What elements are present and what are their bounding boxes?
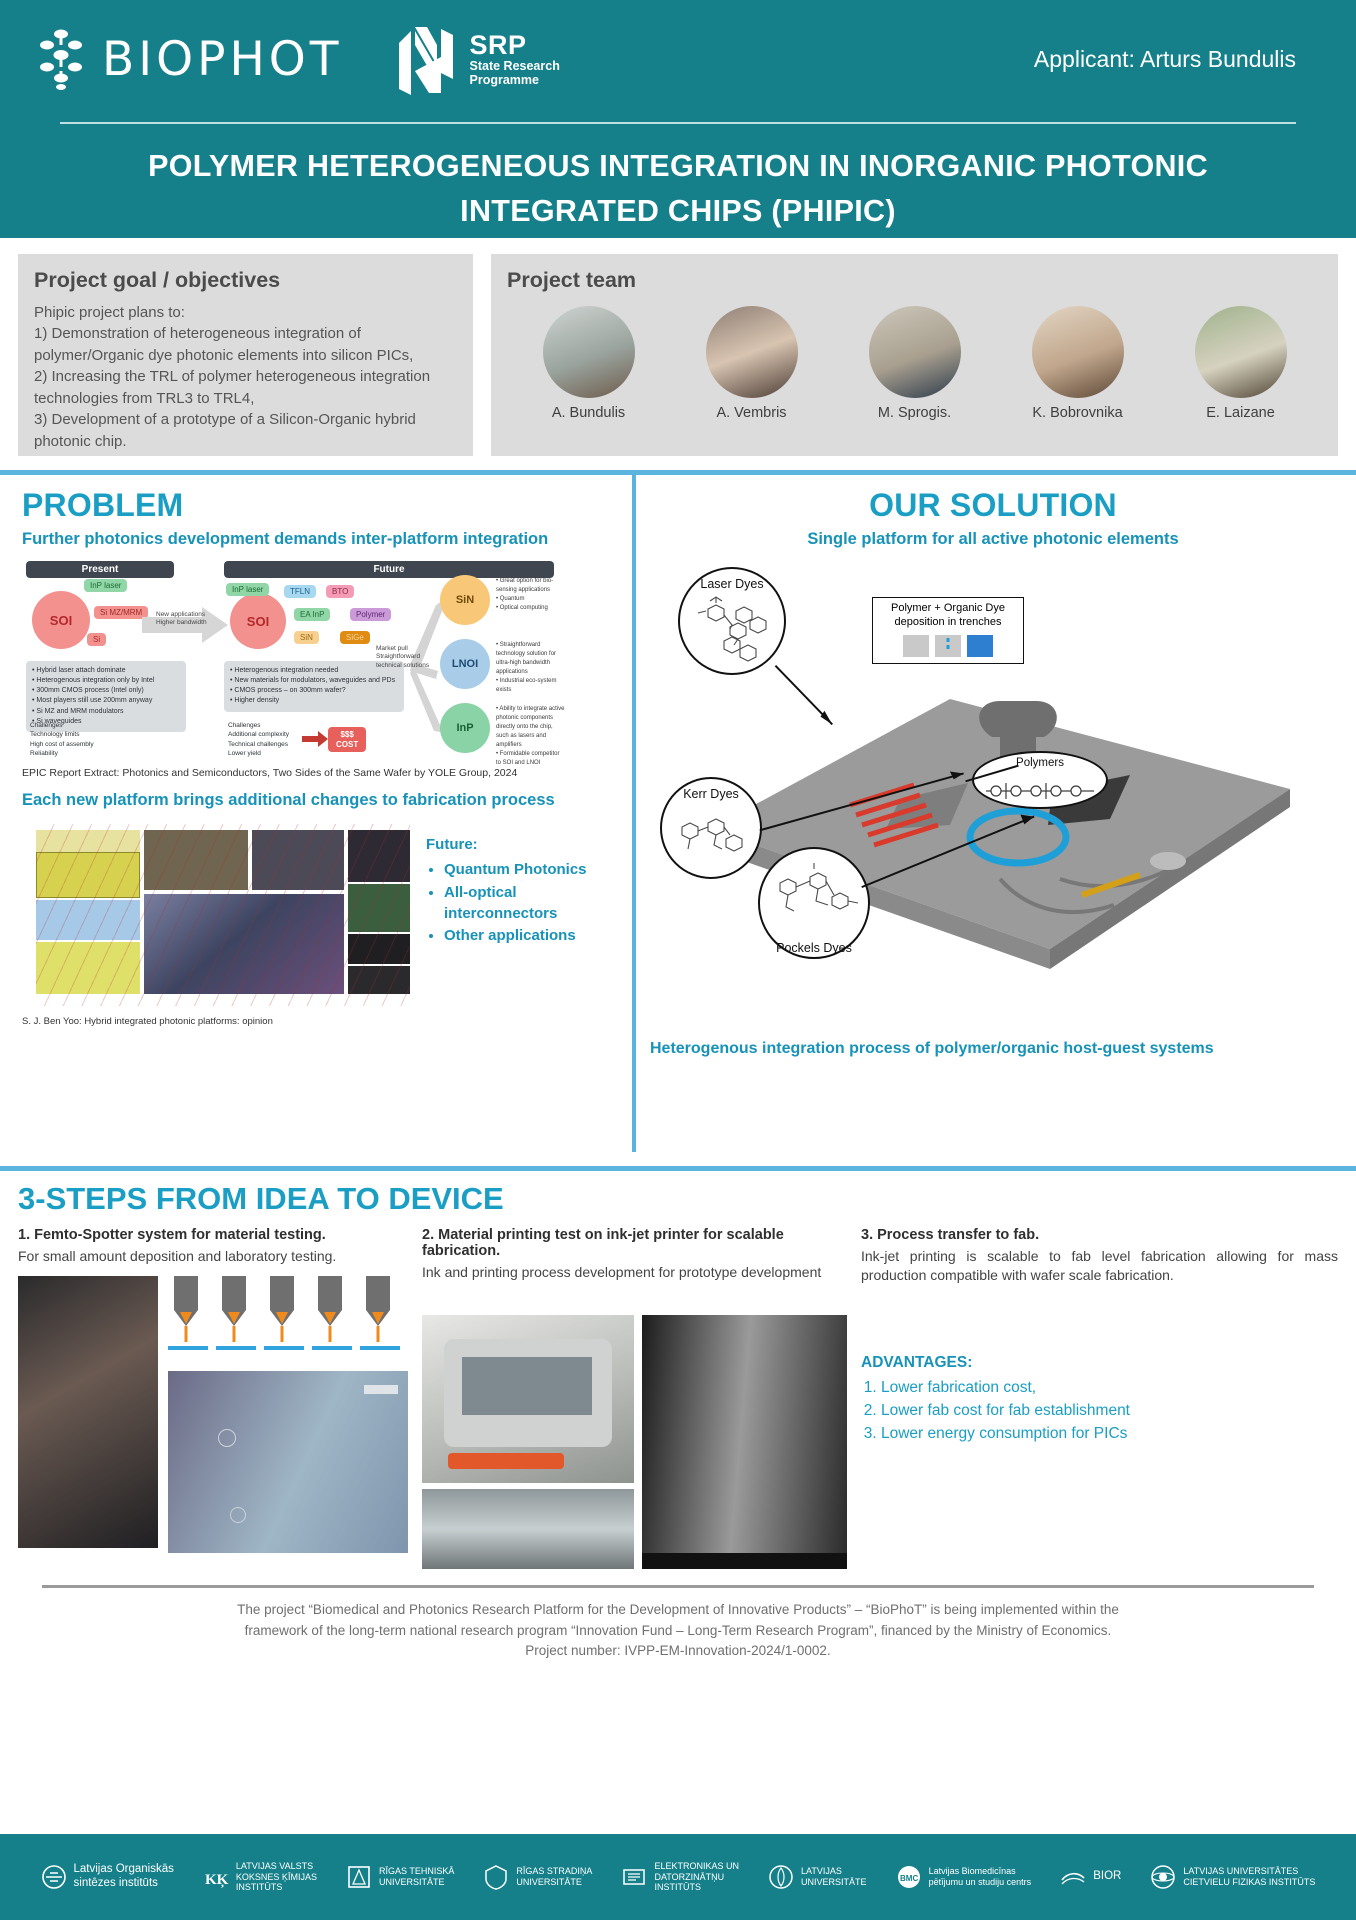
three-steps-section: 3-STEPS FROM IDEA TO DEVICE 1. Femto-Spo… [0,1171,1356,1569]
problem-citation-2: S. J. Ben Yoo: Hybrid integrated photoni… [22,1016,618,1027]
srp-logo: SRP State Research Programme [393,23,560,95]
institution-name: Latvijas Biomedicīnas pētījumu un studij… [929,1866,1032,1887]
avatar [543,306,635,398]
future-application-item: All-optical interconnectors [444,882,618,925]
team-member: K. Bobrovnika [1022,306,1134,421]
present-future-diagram: Present Future SOI InP laser Si MZ/MRM S… [22,561,618,761]
solution-caption: Heterogenous integration process of poly… [650,1038,1336,1060]
trench-deposition-box: Polymer + Organic Dye deposition in tren… [872,597,1024,664]
solution-diagram: Laser Dyes [650,559,1336,1034]
trench-thumb [967,635,993,657]
goal-item: 1) Demonstration of heterogeneous integr… [34,323,457,366]
biophot-molecule-icon [36,28,86,90]
srp-emblem-icon [393,23,459,95]
advantages-heading: ADVANTAGES: [861,1354,1338,1372]
market-pull-label: Market pullStraightforwardtechnical solu… [376,645,440,670]
team-member-name: M. Sprogis. [859,405,971,421]
cost-badge: $$$COST [328,727,366,752]
present-tag-si-mz: Si MZ/MRM [94,606,148,619]
step-3: 3. Process transfer to fab. Ink-jet prin… [861,1227,1338,1569]
future-tag-sin: SiN [294,631,319,644]
inkjet-printer-photo [422,1315,634,1483]
laser-dyes-bubble: Laser Dyes [678,567,786,675]
polymers-label: Polymers [1016,753,1064,769]
trench-thumbnails [878,635,1018,657]
platform-node-inp: InP [440,703,490,753]
step-2-heading: 2. Material printing test on ink-jet pri… [422,1227,847,1259]
kerr-dye-molecule-icon [674,809,750,869]
present-soi-node: SOI [32,591,90,649]
team-member: A. Bundulis [533,306,645,421]
platform-notes-lnoi: • Straightforward technology solution fo… [496,641,566,695]
institution-logo: KĶI LATVIJAS VALSTS KOKSNES ĶĪMIJAS INST… [203,1861,317,1893]
goal-item: 3) Development of a prototype of a Silic… [34,409,457,452]
polymer-chain-icon [986,779,1098,803]
project-team-heading: Project team [507,268,1322,293]
avatar [869,306,961,398]
funding-line: The project “Biomedical and Photonics Re… [70,1600,1286,1621]
institution-logo: BIOR [1060,1864,1121,1890]
institution-logo: LATVIJAS UNIVERSITĀTE [768,1864,867,1890]
future-tag-tfln: TFLN [284,585,316,598]
future-tag-bto: BTO [326,585,354,598]
institution-name: BIOR [1093,1870,1121,1884]
problem-subtitle-2: Each new platform brings additional chan… [22,791,618,810]
platform-notes-sin: • Great option for bio-sensing applicati… [496,577,566,613]
rsu-logo-icon [483,1864,509,1890]
printed-line-micrograph [422,1489,634,1569]
future-tag-inp-laser: InP laser [226,583,269,596]
cfi-logo-icon [1150,1864,1176,1890]
avatar [1195,306,1287,398]
advantage-item: Lower fabrication cost, [881,1376,1338,1399]
edi-logo-icon [621,1864,647,1890]
future-application-item: Other applications [444,925,618,946]
main-two-column-area: PROBLEM Further photonics development de… [0,475,1356,1152]
trench-thumb [903,635,929,657]
rtu-logo-icon [346,1864,372,1890]
future-applications-heading: Future: [426,834,618,855]
future-tag-polymer: Polymer [350,608,391,621]
laser-dyes-label: Laser Dyes [700,569,763,591]
step-3-heading: 3. Process transfer to fab. [861,1227,1338,1243]
present-tag-si: Si [87,633,106,646]
solution-subtitle: Single platform for all active photonic … [650,530,1336,549]
page-title: POLYMER HETEROGENEOUS INTEGRATION IN INO… [36,124,1320,234]
team-member-name: A. Bundulis [533,405,645,421]
team-member: M. Sprogis. [859,306,971,421]
institution-logo: ELEKTRONIKAS UN DATORZINĀTŅU INSTITŪTS [621,1861,739,1893]
applicant-label: Applicant: Arturs Bundulis [1034,46,1320,73]
institution-name: LATVIJAS UNIVERSITĀTES CIETVIELU FIZIKAS… [1183,1866,1315,1887]
funding-acknowledgement: The project “Biomedical and Photonics Re… [0,1588,1356,1662]
transition-arrow-label: New applicationsHigher bandwidth [156,611,207,628]
kerr-dyes-bubble: Kerr Dyes [660,777,762,879]
avatar [706,306,798,398]
deposited-film-micrograph [168,1371,408,1553]
institution-logo: RĪGAS TEHNISKĀ UNIVERSITĀTE [346,1864,454,1890]
kerr-dyes-label: Kerr Dyes [683,779,739,801]
future-challenges: ChallengesAdditional complexityTechnical… [228,721,289,759]
polymers-bubble: Polymers [972,751,1108,809]
institution-logo-bar: Latvijas Organiskās sintēzes institūts K… [0,1834,1356,1920]
platform-node-sin: SiN [440,575,490,625]
project-team-panel: Project team A. Bundulis A. Vembris M. S… [491,254,1338,456]
step-2: 2. Material printing test on ink-jet pri… [422,1227,847,1569]
femto-spotter-photo [18,1276,158,1548]
solution-title: OUR SOLUTION [650,487,1336,524]
hybrid-platforms-figure: Future: Quantum Photonics All-optical in… [22,820,618,1010]
biophot-logo: BIOPHOT [36,28,343,90]
institution-logo: BMC Latvijas Biomedicīnas pētījumu un st… [896,1864,1032,1890]
srp-wordmark: SRP State Research Programme [470,31,560,87]
institution-name: ELEKTRONIKAS UN DATORZINĀTŅU INSTITŪTS [654,1861,739,1893]
advantages-list: Lower fabrication cost, Lower fab cost f… [881,1376,1338,1446]
trench-thumb [935,635,961,657]
project-goal-panel: Project goal / objectives Phipic project… [18,254,473,456]
srp-line-2: Programme [470,74,560,88]
present-challenges: ChallengesTechnology limitsHigh cost of … [30,721,94,759]
goal-item: 2) Increasing the TRL of polymer heterog… [34,366,457,409]
osi-logo-icon [41,1864,67,1890]
future-application-item: Quantum Photonics [444,859,618,880]
top-panels-row: Project goal / objectives Phipic project… [0,238,1356,456]
pockels-dyes-label: Pockels Dyes [776,941,852,955]
pockels-dyes-bubble: Pockels Dyes [758,847,870,959]
biophot-wordmark: BIOPHOT [102,32,343,87]
lu-logo-icon [768,1864,794,1890]
institution-name: LATVIJAS UNIVERSITĀTE [801,1866,867,1887]
step-3-text: Ink-jet printing is scalable to fab leve… [861,1247,1338,1286]
hybrid-platforms-image [36,824,410,1006]
institution-name: LATVIJAS VALSTS KOKSNES ĶĪMIJAS INSTITŪT… [236,1861,317,1893]
institution-logo: Latvijas Organiskās sintēzes institūts [41,1863,174,1890]
institution-name: RĪGAS TEHNISKĀ UNIVERSITĀTE [379,1866,454,1887]
team-member-name: K. Bobrovnika [1022,405,1134,421]
future-tag-sige: SiGe [340,631,370,644]
problem-title: PROBLEM [22,487,618,524]
pockels-dye-molecule-icon [770,863,862,933]
advantage-item: Lower energy consumption for PICs [881,1422,1338,1445]
step-1-heading: 1. Femto-Spotter system for material tes… [18,1227,408,1243]
future-applications-list: Future: Quantum Photonics All-optical in… [426,834,618,947]
avatar [1032,306,1124,398]
header-top-row: BIOPHOT SRP State Research Programme App… [36,0,1320,118]
project-goal-body: Phipic project plans to: 1) Demonstratio… [34,302,457,452]
institution-name: Latvijas Organiskās sintēzes institūts [74,1863,174,1890]
srp-line-1: State Research [470,60,560,74]
future-header: Future [224,561,554,578]
lvkki-logo-icon: KĶI [203,1864,229,1890]
problem-column: PROBLEM Further photonics development de… [0,475,632,1152]
svg-text:KĶI: KĶI [205,1872,229,1888]
problem-citation-1: EPIC Report Extract: Photonics and Semic… [22,767,618,779]
bmc-logo-icon: BMC [896,1864,922,1890]
team-member: E. Laizane [1185,306,1297,421]
srp-acronym: SRP [470,31,560,60]
goal-intro: Phipic project plans to: [34,302,457,323]
advantage-item: Lower fab cost for fab establishment [881,1399,1338,1422]
poster-header: BIOPHOT SRP State Research Programme App… [0,0,1356,238]
trench-deposition-label: Polymer + Organic Dye deposition in tren… [878,602,1018,630]
step-2-text: Ink and printing process development for… [422,1263,847,1282]
team-members-row: A. Bundulis A. Vembris M. Sprogis. K. Bo… [507,302,1322,421]
present-header: Present [26,561,174,578]
funding-line: framework of the long-term national rese… [70,1621,1286,1642]
team-member: A. Vembris [696,306,808,421]
three-steps-row: 1. Femto-Spotter system for material tes… [18,1227,1338,1569]
svg-text:BMC: BMC [900,1874,918,1883]
step-1-text: For small amount deposition and laborato… [18,1247,408,1266]
platform-notes-inp: • Ability to integrate active photonic c… [496,705,566,768]
three-steps-title: 3-STEPS FROM IDEA TO DEVICE [18,1181,1338,1217]
future-soi-node: SOI [230,593,286,649]
laser-dye-molecule-icon [694,595,774,669]
present-tag-inp-laser: InP laser [84,579,127,592]
future-tag-ea-inp: EA InP [294,608,330,621]
funding-line: Project number: IVPP-EM-Innovation-2024/… [70,1641,1286,1662]
institution-name: RĪGAS STRADIŅA UNIVERSITĀTE [516,1866,592,1887]
institution-logo: RĪGAS STRADIŅA UNIVERSITĀTE [483,1864,592,1890]
team-member-name: A. Vembris [696,405,808,421]
solution-column: OUR SOLUTION Single platform for all act… [636,475,1356,1152]
project-goal-heading: Project goal / objectives [34,268,457,293]
sem-cross-section-photo [642,1315,847,1569]
step-1: 1. Femto-Spotter system for material tes… [18,1227,408,1569]
platform-node-lnoi: LNOI [440,639,490,689]
problem-subtitle-1: Further photonics development demands in… [22,530,618,549]
team-member-name: E. Laizane [1185,405,1297,421]
institution-logo: LATVIJAS UNIVERSITĀTES CIETVIELU FIZIKAS… [1150,1864,1315,1890]
cost-arrow-icon [302,731,328,747]
bior-logo-icon [1060,1864,1086,1890]
deposition-nozzles-diagram [168,1276,408,1360]
